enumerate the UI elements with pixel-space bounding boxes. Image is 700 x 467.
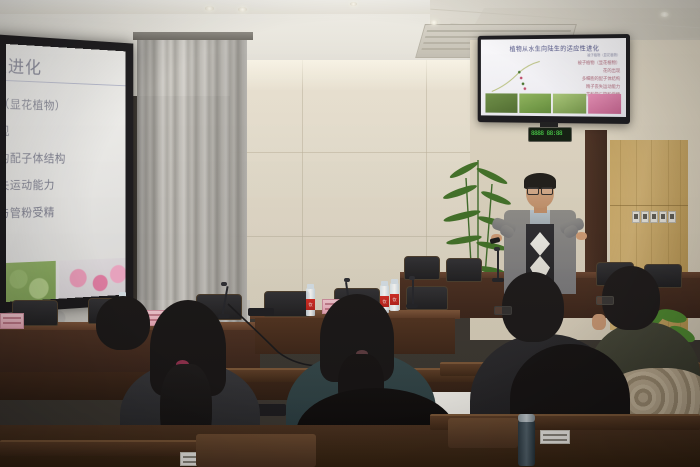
light-switch[interactable] <box>668 211 676 223</box>
downlight <box>430 20 438 25</box>
tv-slide-bullet: 花的出现 <box>603 68 620 74</box>
tv-slide-diagram <box>488 56 545 95</box>
tv-slide-subtitle: 被子植物（显花植物） <box>587 52 620 57</box>
glasses-icon <box>494 306 512 315</box>
downlight <box>660 12 669 17</box>
tv-thumbnail-strip <box>485 93 621 114</box>
light-switch[interactable] <box>641 211 649 223</box>
wood-panel-seam <box>610 205 688 206</box>
thumbnail-fern <box>553 94 586 114</box>
light-switch-panel[interactable] <box>632 211 676 223</box>
tv-slide-bullet: 多细胞的配子体结构 <box>582 76 620 82</box>
name-card <box>0 313 24 329</box>
led-clock-display: 8888 88:88 <box>528 127 572 142</box>
tv-monitor-screen: 植物从水生向陆生的适应性进化 被子植物（显花植物） 被子植物（显花植物） 花的出… <box>481 38 626 117</box>
light-switch[interactable] <box>659 211 667 223</box>
thermos-flask[interactable] <box>518 420 535 466</box>
glasses-icon <box>596 296 614 305</box>
curtain-rod <box>133 32 253 40</box>
thumbnail-flower <box>588 94 621 114</box>
audience-head <box>96 296 150 350</box>
presenter-right-hand <box>576 232 587 240</box>
conference-room-photo: 应性进化 子植物（显花植物） 花的出现 多细胞的配子体结构 精子丧失运动能力 花… <box>0 0 700 467</box>
led-display-text: 8888 88:88 <box>531 130 562 137</box>
downlight <box>205 6 214 11</box>
downlight <box>238 7 247 12</box>
seat-number-tag <box>540 430 570 444</box>
audience-member <box>88 296 158 356</box>
thumbnail-algae <box>485 93 517 113</box>
curtain-shading <box>137 38 247 328</box>
tv-slide-bullet: 被子植物（显花植物） <box>578 60 620 66</box>
downlight <box>350 2 357 6</box>
glasses-icon <box>527 187 553 193</box>
light-switch[interactable] <box>632 211 640 223</box>
presenter-remote[interactable] <box>490 237 501 244</box>
bench-seat <box>448 418 518 448</box>
tv-slide-bullet: 精子丧失运动能力 <box>586 84 620 90</box>
audience-hand <box>592 314 606 330</box>
screen-glare <box>6 44 126 302</box>
bench-seat <box>196 434 316 467</box>
light-switch[interactable] <box>650 211 658 223</box>
thumbnail-moss <box>519 94 551 114</box>
